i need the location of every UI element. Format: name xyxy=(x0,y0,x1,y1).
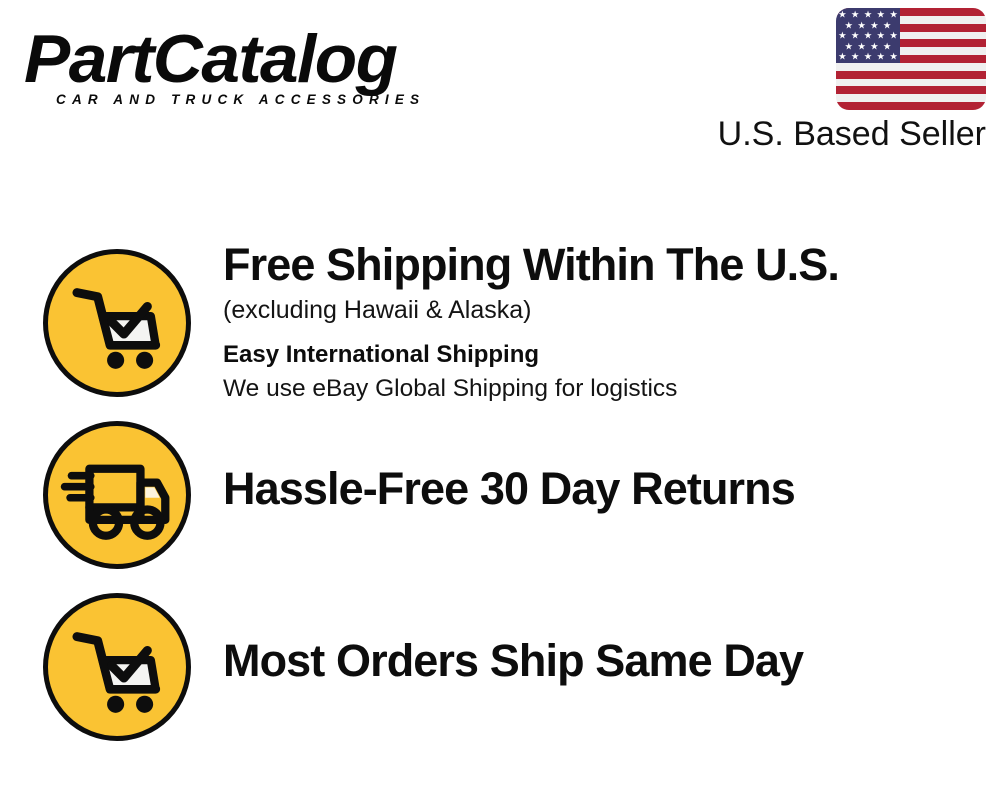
shopping-cart-check-icon xyxy=(43,249,191,397)
flag-stripe xyxy=(836,71,986,79)
us-flag-icon: ★ ★ ★ ★ ★ ★ ★ ★ ★ ★ ★ ★ ★ ★ ★ ★ ★ ★ ★ ★ xyxy=(836,8,986,110)
us-based-seller-badge: ★ ★ ★ ★ ★ ★ ★ ★ ★ ★ ★ ★ ★ ★ ★ ★ ★ ★ ★ ★ xyxy=(686,8,986,154)
feature-subtitle-strong: Easy International Shipping xyxy=(223,339,963,371)
delivery-truck-icon xyxy=(43,421,191,569)
flag-canton: ★ ★ ★ ★ ★ ★ ★ ★ ★ ★ ★ ★ ★ ★ ★ ★ ★ ★ ★ ★ xyxy=(836,8,900,63)
flag-stripe xyxy=(836,86,986,94)
brand-logo[interactable]: PartCatalog CAR AND TRUCK ACCESSORIES xyxy=(24,22,494,107)
feature-title: Free Shipping Within The U.S. xyxy=(223,238,963,291)
feature-text: Most Orders Ship Same Day xyxy=(223,634,963,687)
us-based-seller-label: U.S. Based Seller xyxy=(686,114,986,154)
feature-title: Most Orders Ship Same Day xyxy=(223,634,963,687)
feature-text: Free Shipping Within The U.S. (excluding… xyxy=(223,238,963,405)
banner-header: PartCatalog CAR AND TRUCK ACCESSORIES ★ … xyxy=(0,0,1000,175)
shopping-cart-check-icon xyxy=(43,593,191,741)
feature-row: Hassle-Free 30 Day Returns xyxy=(0,420,1000,570)
feature-row: Free Shipping Within The U.S. (excluding… xyxy=(0,248,1000,398)
flag-stripe xyxy=(836,102,986,110)
feature-subtitle: (excluding Hawaii & Alaska) xyxy=(223,293,963,327)
feature-text: Hassle-Free 30 Day Returns xyxy=(223,462,963,515)
feature-title: Hassle-Free 30 Day Returns xyxy=(223,462,963,515)
brand-wordmark: PartCatalog xyxy=(24,22,503,96)
feature-subtitle-plain: We use eBay Global Shipping for logistic… xyxy=(223,372,963,405)
feature-row: Most Orders Ship Same Day xyxy=(0,592,1000,742)
